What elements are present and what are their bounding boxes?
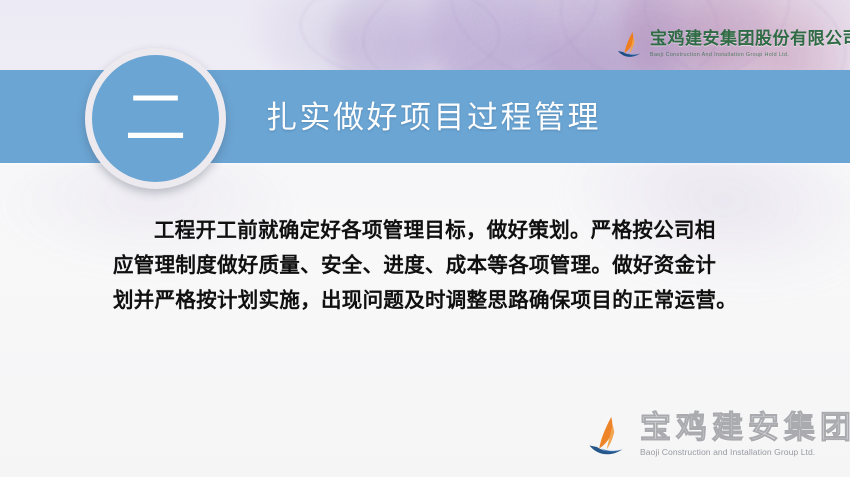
slide-title: 扎实做好项目过程管理 [266, 98, 601, 138]
baoji-flame-sail-logo-mark-icon [617, 31, 645, 61]
footer-company-name-en: Baoji Construction and Installation Grou… [640, 446, 850, 458]
footer-company-name-cn: 宝鸡建安集团 [640, 411, 850, 445]
section-number-badge: 二 [85, 48, 226, 189]
section-number-glyph: 二 [124, 88, 186, 150]
header-company-name-en: Baoji Construction And Installation Grou… [650, 51, 850, 60]
slide-body-text: 工程开工前就确定好各项管理目标，做好策划。严格按公司相 应管理制度做好质量、安全… [113, 213, 745, 318]
body-line: 划并严格按计划实施，出现问题及时调整思路确保项目的正常运营。 [113, 283, 745, 318]
body-line: 工程开工前就确定好各项管理目标，做好策划。严格按公司相 [113, 213, 745, 248]
footer-company-watermark: 宝鸡建安集团 Baoji Construction and Installati… [588, 411, 846, 469]
header-company-logo: 宝鸡建安集团股份有限公司 Baoji Construction And Inst… [617, 29, 843, 71]
presentation-slide: 宝鸡建安集团股份有限公司 Baoji Construction And Inst… [0, 0, 850, 477]
body-line: 应管理制度做好质量、安全、进度、成本等各项管理。做好资金计 [113, 248, 745, 283]
baoji-flame-sail-logo-mark-icon [588, 415, 630, 461]
header-company-name-cn: 宝鸡建安集团股份有限公司 [650, 29, 850, 49]
